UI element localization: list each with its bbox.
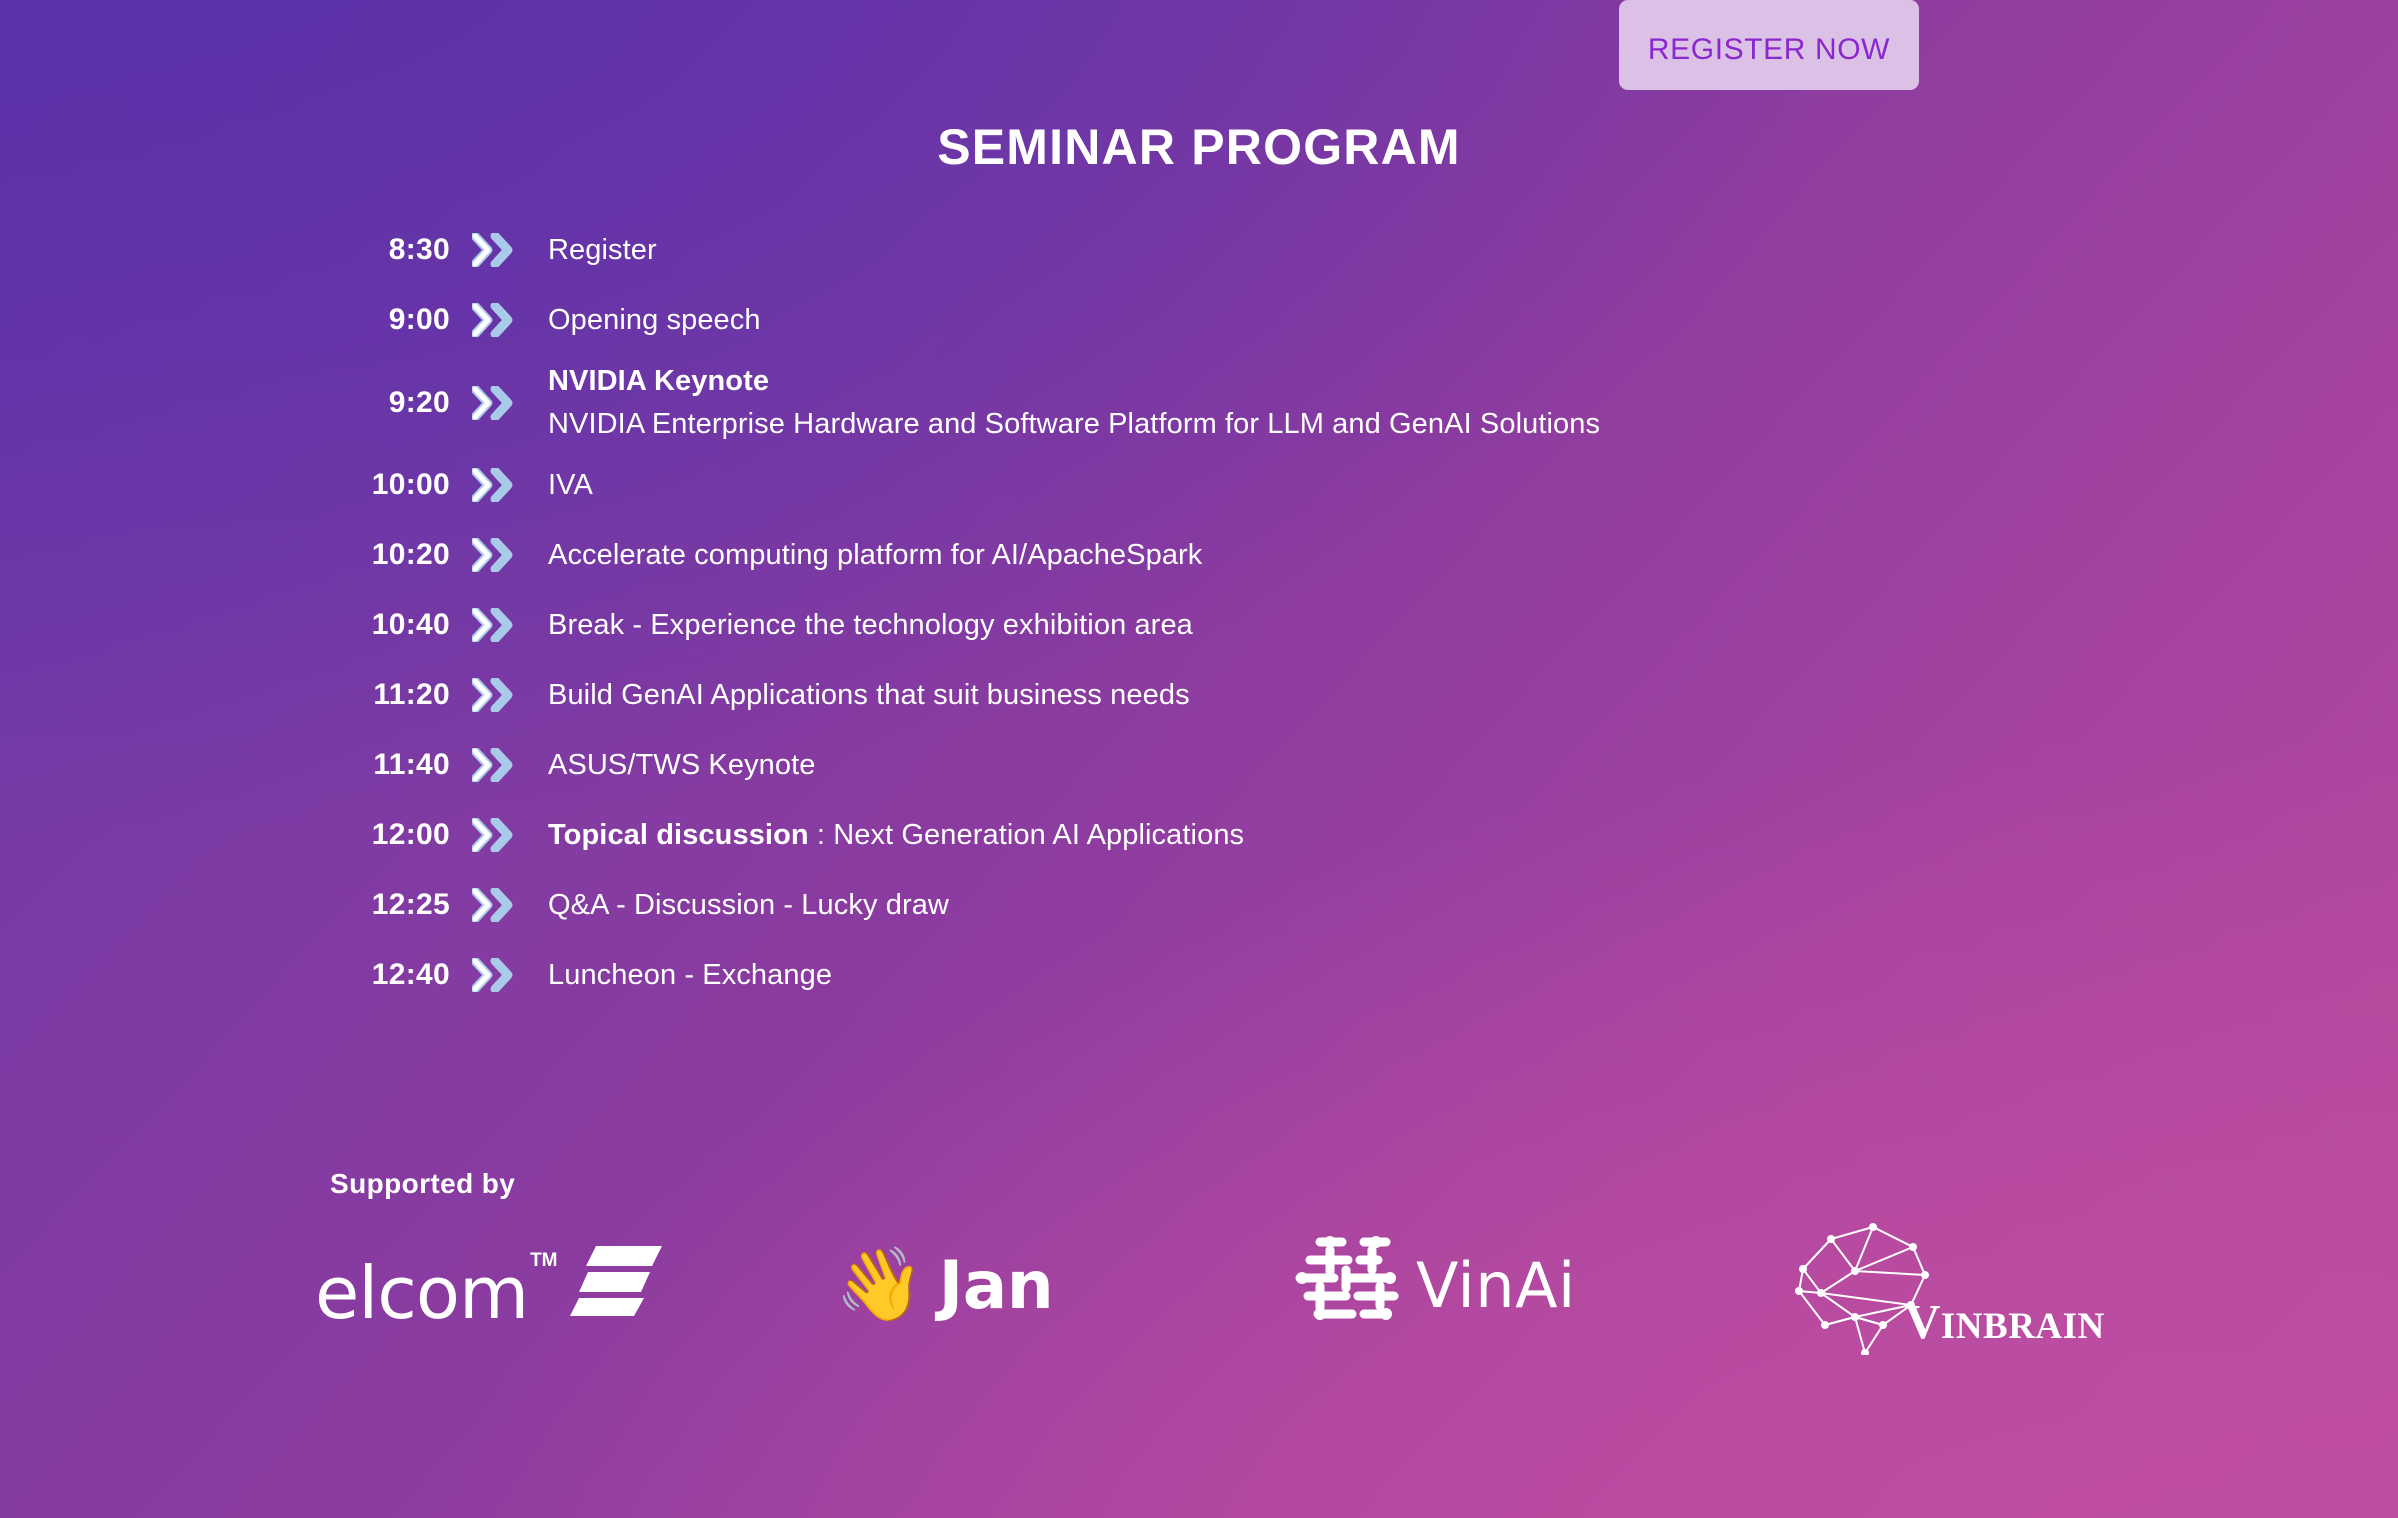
double-chevron-icon (450, 818, 530, 852)
schedule-row: 8:30Register (330, 215, 2030, 285)
double-chevron-icon (450, 386, 530, 420)
schedule-row-subtitle: NVIDIA Enterprise Hardware and Software … (548, 404, 2030, 444)
schedule-row: 11:40ASUS/TWS Keynote (330, 730, 2030, 800)
schedule-row-time: 9:20 (330, 386, 450, 420)
double-chevron-icon (450, 303, 530, 337)
schedule-row-text: IVA (530, 465, 2030, 505)
schedule-row-text: Opening speech (530, 300, 2030, 340)
schedule-row-title: Q&A - Discussion - Lucky draw (548, 889, 949, 921)
vinai-wordmark: VinAi (1416, 1249, 1576, 1322)
schedule-row-time: 11:20 (330, 678, 450, 712)
schedule-row-time: 10:40 (330, 608, 450, 642)
schedule-row-text: Topical discussion : Next Generation AI … (530, 815, 2030, 855)
register-button-container: REGISTER NOW (1619, 0, 1919, 90)
elcom-trademark-symbol: TM (530, 1250, 557, 1272)
double-chevron-icon (450, 538, 530, 572)
schedule-row-title: Build GenAI Applications that suit busin… (548, 679, 1190, 711)
schedule-row-time: 10:20 (330, 538, 450, 572)
vinbrain-wordmark: VINBRAIN (1905, 1293, 2105, 1350)
schedule-row-title-emphasis: Topical discussion (548, 819, 809, 851)
schedule-row-text: Break - Experience the technology exhibi… (530, 605, 2030, 645)
supported-by-label: Supported by (330, 1168, 515, 1200)
schedule-row-time: 11:40 (330, 748, 450, 782)
schedule-row-time: 10:00 (330, 468, 450, 502)
schedule-row: 9:20NVIDIA KeynoteNVIDIA Enterprise Hard… (330, 355, 2030, 450)
schedule-row-time: 12:40 (330, 958, 450, 992)
schedule-row-time: 12:00 (330, 818, 450, 852)
schedule-row-title: Register (548, 234, 657, 266)
sponsor-logo-strip: elcom TM 👋 Jan (300, 1215, 2200, 1355)
schedule-row-text: NVIDIA KeynoteNVIDIA Enterprise Hardware… (530, 361, 2030, 444)
vinai-circuit-mark-icon (1290, 1230, 1400, 1341)
sponsor-logo-vinbrain: VINBRAIN (1630, 1215, 2130, 1355)
waving-hand-icon: 👋 (835, 1249, 925, 1321)
sponsor-logo-jan: 👋 Jan (700, 1215, 1130, 1355)
schedule-row: 12:25Q&A - Discussion - Lucky draw (330, 870, 2030, 940)
double-chevron-icon (450, 608, 530, 642)
seminar-schedule-list: 8:30Register9:00Opening speech9:20NVIDIA… (330, 215, 2030, 1010)
schedule-row-time: 12:25 (330, 888, 450, 922)
schedule-row-time: 8:30 (330, 233, 450, 267)
register-now-button[interactable]: REGISTER NOW (1619, 0, 1919, 90)
double-chevron-icon (450, 888, 530, 922)
vinbrain-wordmark-initial: V (1905, 1294, 1941, 1349)
page-title: SEMINAR PROGRAM (0, 118, 2398, 176)
schedule-row-title: IVA (548, 469, 593, 501)
elcom-wordmark: elcom (315, 1260, 528, 1326)
schedule-row-text: Accelerate computing platform for AI/Apa… (530, 535, 2030, 575)
schedule-row: 11:20Build GenAI Applications that suit … (330, 660, 2030, 730)
schedule-row: 12:40Luncheon - Exchange (330, 940, 2030, 1010)
sponsor-logo-vinai: VinAi (1130, 1215, 1630, 1355)
sponsor-logo-elcom: elcom TM (300, 1215, 700, 1355)
double-chevron-icon (450, 678, 530, 712)
schedule-row: 10:00IVA (330, 450, 2030, 520)
schedule-row-time: 9:00 (330, 303, 450, 337)
double-chevron-icon (450, 958, 530, 992)
schedule-row-title: Accelerate computing platform for AI/Apa… (548, 539, 1202, 571)
schedule-row-title: ASUS/TWS Keynote (548, 749, 816, 781)
schedule-row-text: Register (530, 230, 2030, 270)
vinbrain-wordmark-rest: INBRAIN (1941, 1306, 2105, 1347)
schedule-row-title-suffix: : Next Generation AI Applications (809, 819, 1244, 851)
schedule-row-title: Luncheon - Exchange (548, 959, 832, 991)
schedule-row: 10:40Break - Experience the technology e… (330, 590, 2030, 660)
schedule-row-title: NVIDIA Keynote (548, 361, 2030, 401)
elcom-e-mark-icon (570, 1244, 662, 1323)
double-chevron-icon (450, 468, 530, 502)
schedule-row: 9:00Opening speech (330, 285, 2030, 355)
schedule-row-title: Break - Experience the technology exhibi… (548, 609, 1193, 641)
schedule-row-text: Q&A - Discussion - Lucky draw (530, 885, 2030, 925)
schedule-row-text: Build GenAI Applications that suit busin… (530, 675, 2030, 715)
double-chevron-icon (450, 233, 530, 267)
schedule-row: 10:20Accelerate computing platform for A… (330, 520, 2030, 590)
schedule-row: 12:00Topical discussion : Next Generatio… (330, 800, 2030, 870)
schedule-row-title: Opening speech (548, 304, 761, 336)
double-chevron-icon (450, 748, 530, 782)
jan-wordmark: Jan (939, 1247, 1054, 1324)
schedule-row-text: ASUS/TWS Keynote (530, 745, 2030, 785)
schedule-row-text: Luncheon - Exchange (530, 955, 2030, 995)
